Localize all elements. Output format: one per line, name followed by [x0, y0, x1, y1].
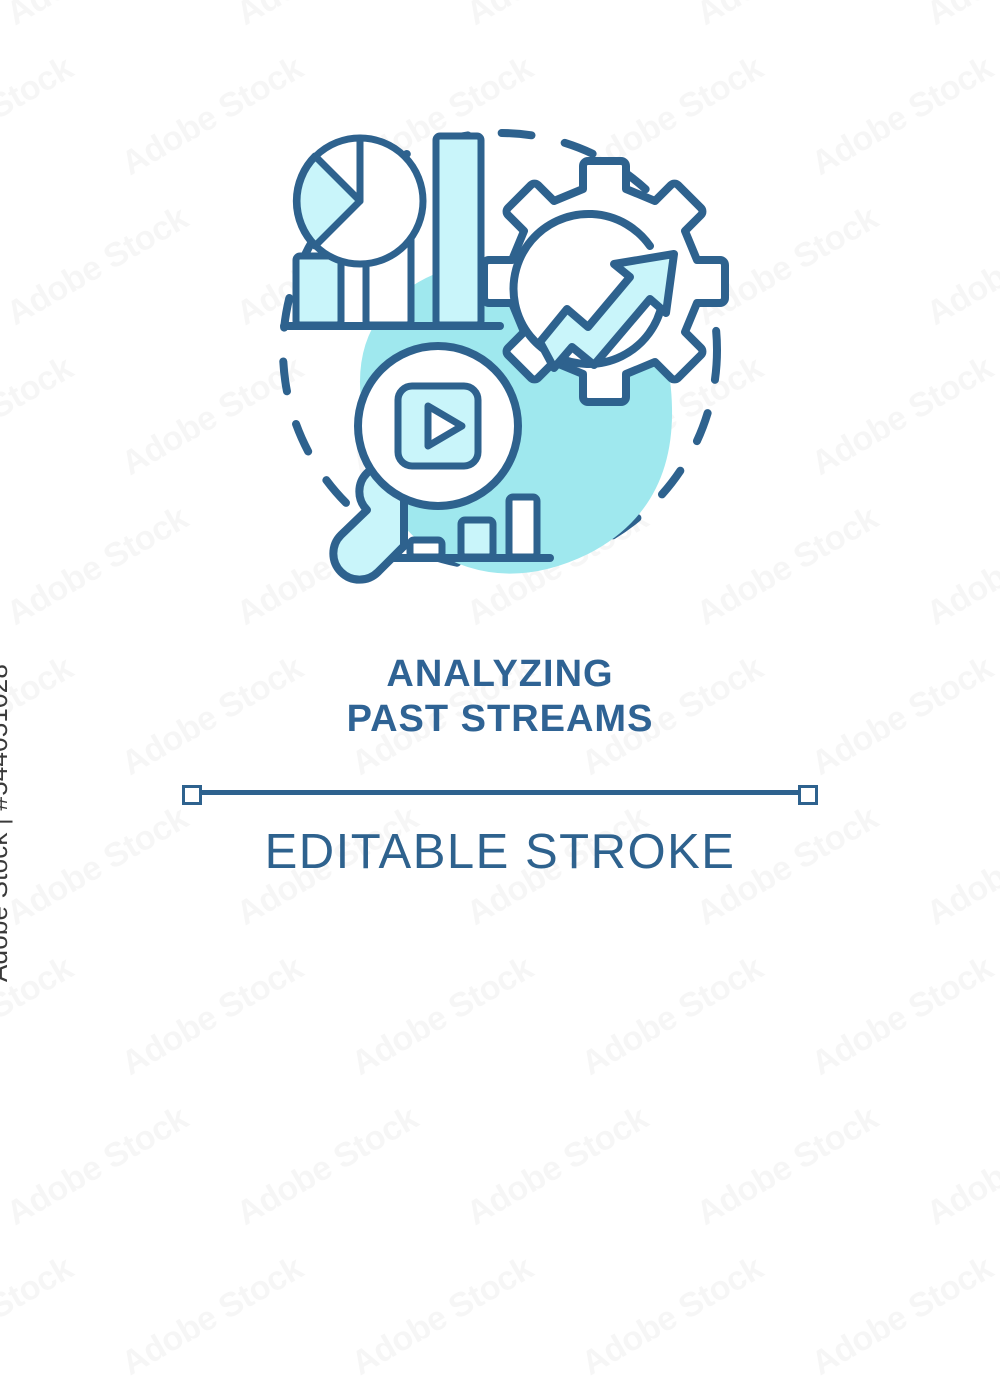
watermark-text: Adobe Stock: [460, 1099, 655, 1234]
watermark-text: Adobe Stock: [920, 0, 1000, 34]
watermark-text: Adobe Stock: [230, 0, 425, 34]
page-title: ANALYZING PAST STREAMS: [0, 652, 1000, 742]
watermark-text: Adobe Stock: [0, 1099, 195, 1234]
watermark-text: Adobe Stock: [345, 1249, 540, 1384]
watermark-text: Adobe Stock: [805, 1249, 1000, 1384]
gear: [484, 161, 725, 402]
pie-chart: [296, 138, 423, 264]
watermark-text: Adobe Stock: [805, 49, 1000, 184]
stroke-slider[interactable]: [182, 782, 818, 808]
watermark-text: Adobe Stock: [805, 949, 1000, 1084]
page-title-line-2: PAST STREAMS: [0, 697, 1000, 742]
watermark-text: Adobe Stock: [920, 499, 1000, 634]
watermark-text: Adobe Stock: [920, 1099, 1000, 1234]
watermark-text: Adobe Stock: [690, 0, 885, 34]
bar-top-short: [296, 256, 341, 325]
watermark-text: Adobe Stock: [690, 1099, 885, 1234]
editable-stroke-label: EDITABLE STROKE: [0, 824, 1000, 880]
page-title-line-1: ANALYZING: [0, 652, 1000, 697]
analyzing-past-streams-icon: [258, 108, 742, 608]
bar-bottom-medium: [461, 520, 493, 557]
watermark-text: Adobe Stock: [230, 1099, 425, 1234]
watermark-text: Adobe Stock: [805, 349, 1000, 484]
watermark-text: Adobe Stock: [575, 949, 770, 1084]
watermark-text: Adobe Stock: [920, 199, 1000, 334]
watermark-text: Adobe Stock: [575, 1249, 770, 1384]
bar-bottom-tall: [509, 497, 537, 557]
bar-top-tall: [436, 136, 481, 325]
watermark-text: Adobe Stock: [460, 0, 655, 34]
watermark-text: Adobe Stock: [115, 949, 310, 1084]
stock-id-strip: Adobe Stock | #544051028: [0, 0, 58, 1000]
watermark-text: Adobe Stock: [0, 1249, 80, 1384]
stroke-slider-handle-right[interactable]: [798, 785, 818, 805]
editable-stroke-widget: EDITABLE STROKE: [0, 782, 1000, 880]
stock-id-label: Adobe Stock | #544051028: [0, 664, 14, 982]
stroke-slider-handle-left[interactable]: [182, 785, 202, 805]
watermark-text: Adobe Stock: [115, 1249, 310, 1384]
watermark-text: Adobe Stock: [345, 949, 540, 1084]
stroke-slider-track: [202, 790, 798, 795]
